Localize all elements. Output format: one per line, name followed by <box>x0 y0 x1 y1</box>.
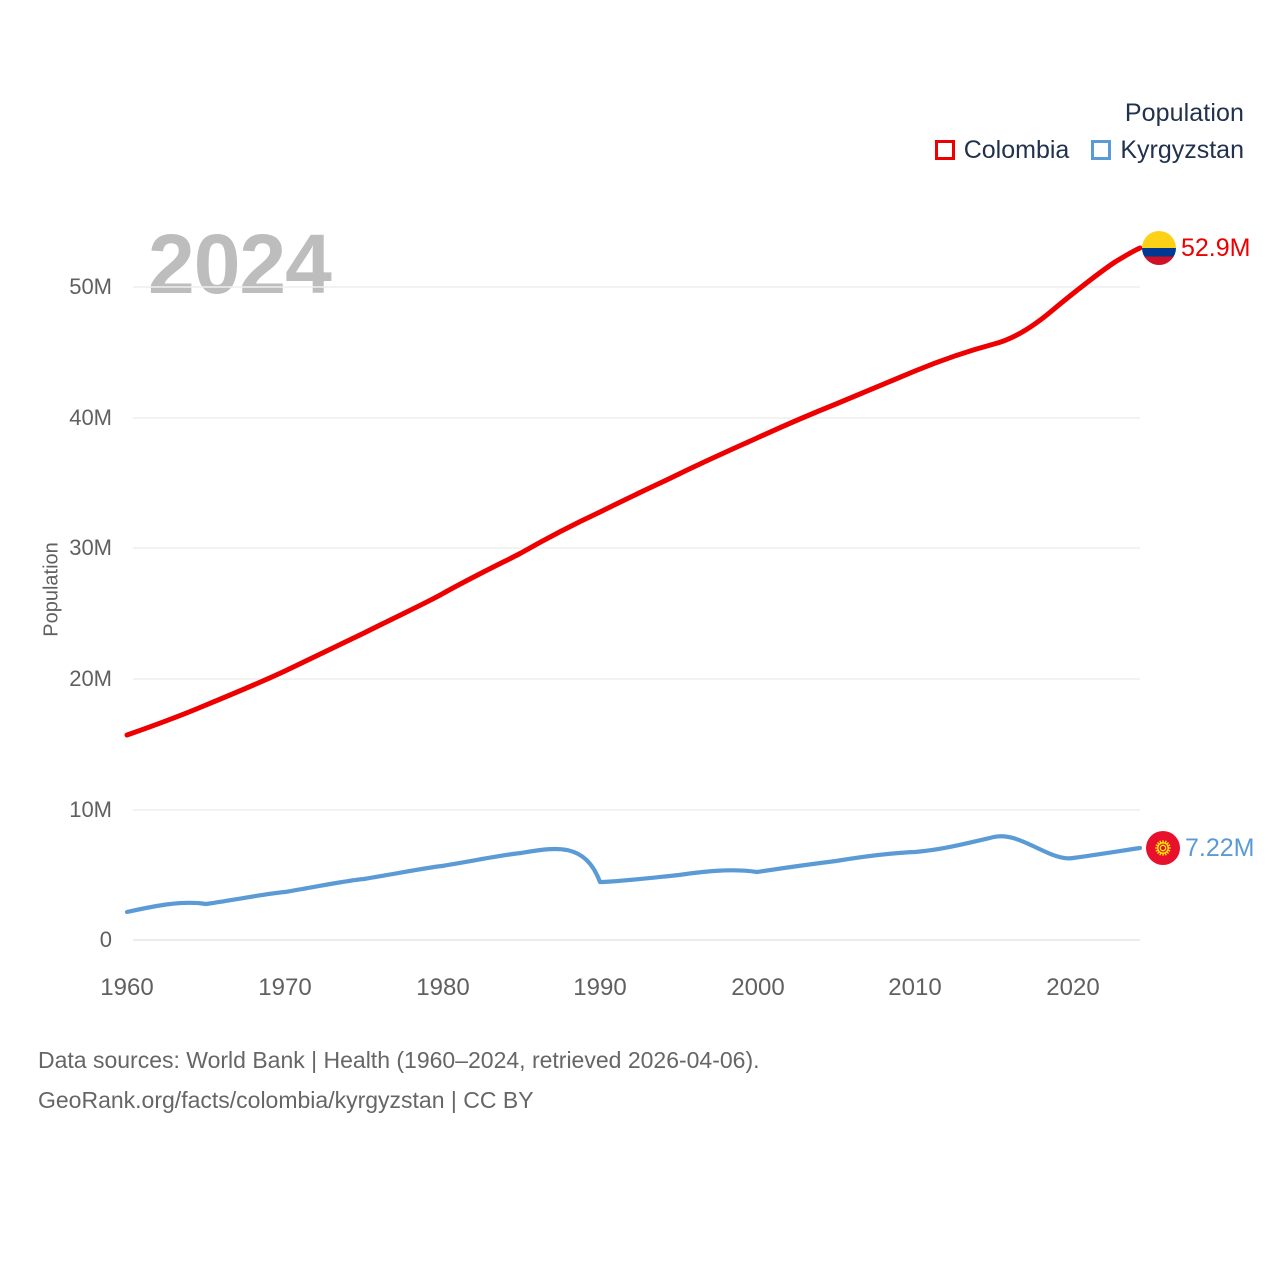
chart-canvas: Population Colombia Kyrgyzstan 2024 <box>0 0 1280 1280</box>
end-label-colombia: 52.9M <box>1181 236 1250 261</box>
colombia-flag-icon <box>1142 231 1176 265</box>
x-tick-label-1970: 1970 <box>225 976 345 1000</box>
y-tick-label-50m: 50M <box>2 276 112 298</box>
y-tick-label-10m: 10M <box>2 799 112 821</box>
footer-line-attribution[interactable]: GeoRank.org/facts/colombia/kyrgyzstan | … <box>38 1080 760 1120</box>
y-axis-title: Population <box>41 520 64 660</box>
footer-line-data-sources: Data sources: World Bank | Health (1960–… <box>38 1040 760 1080</box>
y-tick-label-40m: 40M <box>2 407 112 429</box>
x-tick-label-2010: 2010 <box>855 976 975 1000</box>
x-tick-label-1980: 1980 <box>383 976 503 1000</box>
x-tick-label-1960: 1960 <box>67 976 187 1000</box>
x-tick-label-2020: 2020 <box>1013 976 1133 1000</box>
y-tick-label-20m: 20M <box>2 668 112 690</box>
kyrgyzstan-flag-icon <box>1146 831 1180 865</box>
gridlines <box>133 287 1140 940</box>
end-label-kyrgyzstan: 7.22M <box>1185 836 1254 861</box>
x-tick-label-1990: 1990 <box>540 976 660 1000</box>
series-line-kyrgyzstan <box>127 836 1140 912</box>
footer: Data sources: World Bank | Health (1960–… <box>38 1040 760 1120</box>
series-line-colombia <box>127 248 1140 735</box>
x-tick-label-2000: 2000 <box>698 976 818 1000</box>
y-tick-label-0: 0 <box>2 929 112 951</box>
